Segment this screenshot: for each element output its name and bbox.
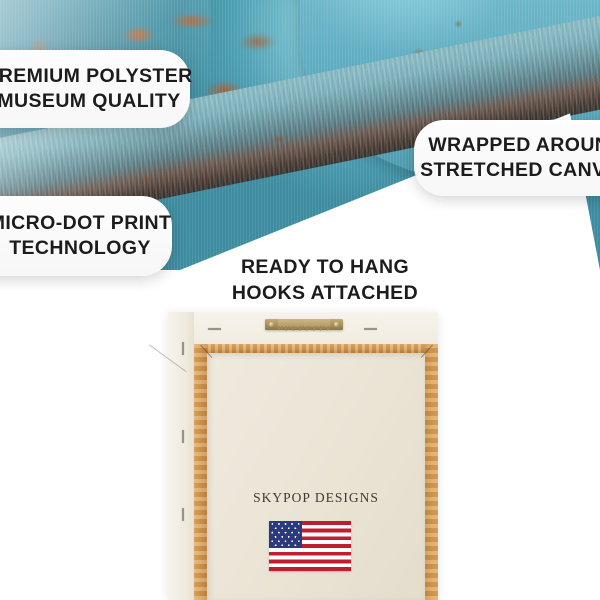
feature-pill-wrapped: WRAPPED AROUND STRETCHED CANVAS (414, 120, 600, 196)
sawtooth-hanger-icon (265, 318, 343, 332)
canvas-staple (208, 328, 221, 330)
canvas-staple (182, 342, 184, 355)
feature-pill-microdot-line1: MICRO-DOT PRINT (0, 211, 171, 236)
stretcher-bar-top (194, 344, 438, 353)
stretcher-bar-left (194, 344, 207, 600)
feature-caption-ready-line1: READY TO HANG (215, 255, 435, 281)
hanger-screw-left (269, 322, 274, 327)
product-feature-graphic: PREMIUM POLYSTER MUSEUM QUALITY WRAPPED … (0, 0, 600, 600)
feature-pill-wrapped-line2: STRETCHED CANVAS (420, 158, 600, 183)
feature-caption-ready-line2: HOOKS ATTACHED (215, 281, 435, 307)
feature-caption-ready-to-hang: READY TO HANG HOOKS ATTACHED (215, 255, 435, 306)
hanger-sawtooth (278, 326, 330, 331)
canvas-staple (364, 328, 377, 330)
canvas-staple (182, 508, 184, 521)
feature-pill-microdot-line2: TECHNOLOGY (9, 236, 151, 261)
brand-name: SKYPOP DESIGNS (194, 490, 438, 506)
flag-stars (269, 521, 302, 548)
feature-pill-premium-line2: MUSEUM QUALITY (0, 89, 181, 114)
stretcher-bar-right (425, 344, 438, 600)
feature-pill-wrapped-line1: WRAPPED AROUND (428, 133, 600, 158)
feature-pill-microdot: MICRO-DOT PRINT TECHNOLOGY (0, 196, 172, 276)
feature-pill-premium: PREMIUM POLYSTER MUSEUM QUALITY (0, 50, 190, 128)
canvas-staple (182, 430, 184, 443)
hanger-screw-right (334, 322, 339, 327)
canvas-back-view: SKYPOP DESIGNS (168, 312, 438, 600)
us-flag-icon (269, 521, 351, 571)
flag-canton (269, 521, 302, 548)
feature-pill-premium-line1: PREMIUM POLYSTER (0, 64, 193, 89)
hanger-bar (278, 319, 330, 327)
